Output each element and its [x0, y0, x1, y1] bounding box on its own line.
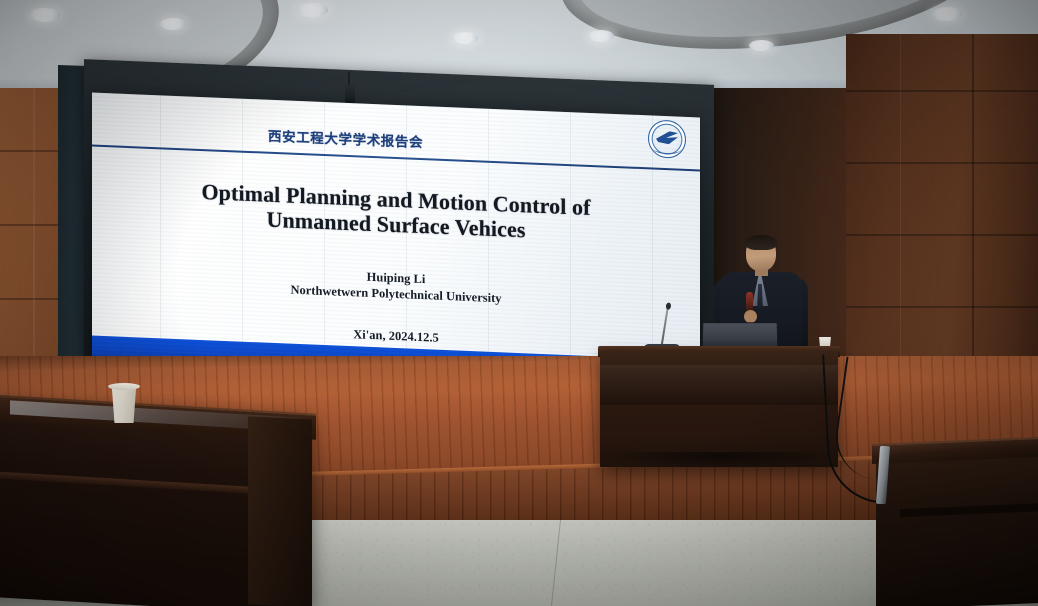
ceiling-downlight-4 — [452, 32, 478, 44]
presenter-hand — [744, 310, 757, 323]
foreground-desk-right — [876, 440, 1038, 606]
foreground-desk-left-side — [248, 416, 312, 606]
ceiling-downlight-9 — [932, 7, 962, 21]
ceiling-downlight-2 — [160, 18, 186, 30]
slide-main-title: Optimal Planning and Motion Control of U… — [92, 175, 700, 250]
panel-seam — [846, 234, 1038, 236]
presenter-podium — [600, 351, 838, 467]
slide-author-block: Huiping Li Northwetwern Polytechnical Un… — [92, 258, 700, 315]
ceiling-downlight-8 — [749, 40, 774, 51]
presentation-slide: 西安工程大学学术报告会 Optimal Planning and Motion … — [92, 93, 700, 383]
ceiling-downlight-3 — [297, 3, 328, 17]
panel-seam — [846, 162, 1038, 164]
presenter-hair — [745, 235, 777, 250]
university-logo-icon — [648, 119, 686, 159]
ceiling-downlight-1 — [30, 8, 60, 22]
paper-cup-desk-rim — [108, 383, 140, 390]
podium-shading — [600, 365, 838, 405]
podium-shadow — [604, 452, 834, 468]
lecture-hall-scene: 西安工程大学学术报告会 Optimal Planning and Motion … — [0, 0, 1038, 606]
panel-seam — [846, 306, 1038, 308]
panel-seam — [846, 90, 1038, 92]
ceiling-downlight-7 — [588, 30, 614, 42]
paper-cup-desk — [110, 385, 138, 423]
